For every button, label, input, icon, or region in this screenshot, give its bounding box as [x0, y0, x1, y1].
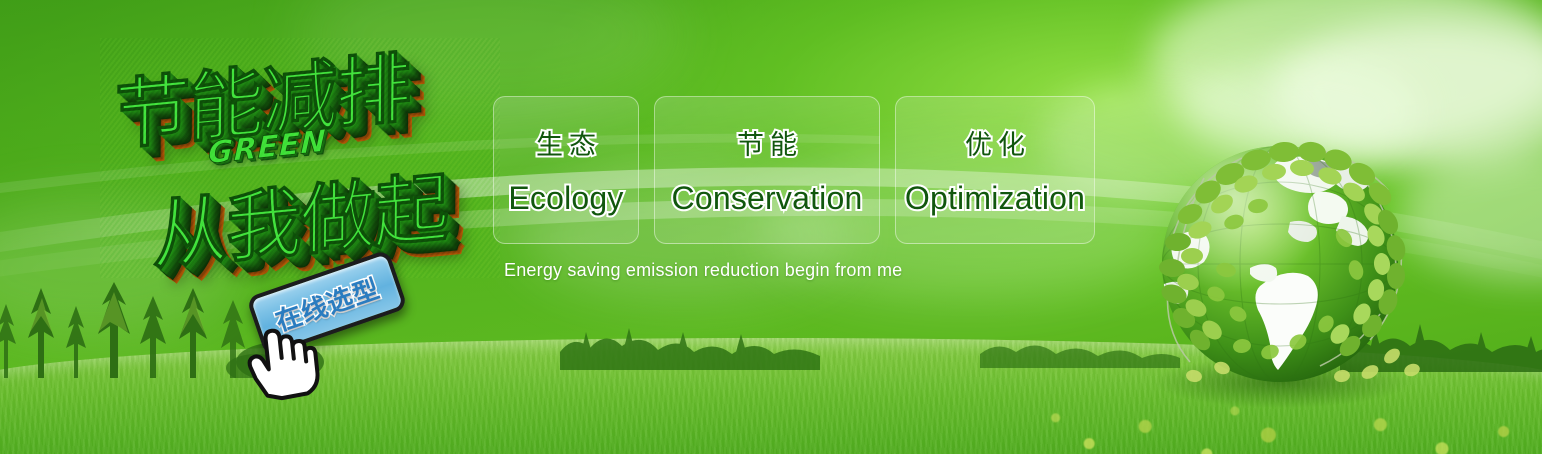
- green-energy-banner: 节能减排 GREEN 从我做起 在线选型 生态 Ecology 节能 Conse…: [0, 0, 1542, 454]
- pointing-hand-cursor-icon: [234, 314, 329, 409]
- headline-line-2: 从我做起: [152, 146, 448, 285]
- feature-cards: 生态 Ecology 节能 Conservation 优化 Optimizati…: [493, 96, 1095, 244]
- feature-card-en-label: Optimization: [905, 180, 1085, 217]
- feature-card-cn-label: 生态: [530, 123, 602, 162]
- feature-card-cn-label: 节能: [731, 123, 803, 162]
- feature-card-en-label: Conservation: [672, 180, 863, 217]
- feature-card-cn-label: 优化: [959, 123, 1031, 162]
- feature-card-ecology[interactable]: 生态 Ecology: [493, 96, 639, 244]
- feature-card-conservation[interactable]: 节能 Conservation: [654, 96, 880, 244]
- feature-card-optimization[interactable]: 优化 Optimization: [895, 96, 1095, 244]
- feature-card-en-label: Ecology: [508, 180, 623, 217]
- tagline: Energy saving emission reduction begin f…: [504, 260, 902, 281]
- ivy-covered-earth-globe-icon: [1130, 118, 1430, 418]
- headline-3d: 节能减排 GREEN 从我做起: [100, 38, 500, 278]
